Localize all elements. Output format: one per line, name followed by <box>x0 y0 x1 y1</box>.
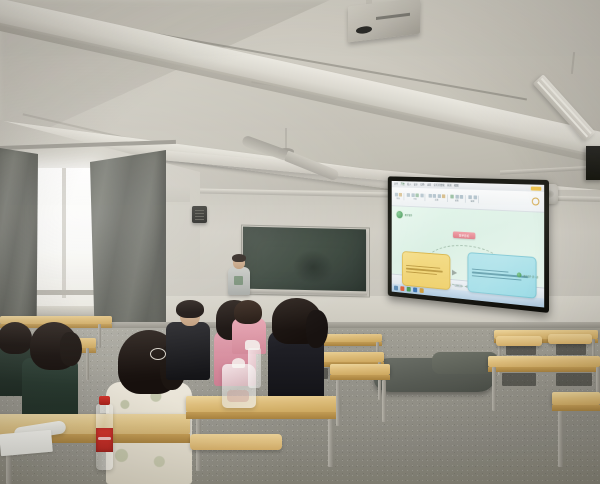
ribbon-icons <box>450 195 463 199</box>
slide-logo: 教学课件 <box>396 210 413 220</box>
ribbon-group-label: 编辑 <box>471 200 475 203</box>
black-speaker-icon <box>586 146 600 180</box>
bottle-label <box>96 428 113 452</box>
paste-icon <box>394 193 397 197</box>
chair <box>548 334 592 344</box>
ribbon-group-label: 段落 <box>435 199 438 202</box>
taskbar-app-icon[interactable] <box>400 286 404 291</box>
bag-contents <box>227 390 249 402</box>
bold-icon <box>407 193 410 197</box>
replace-icon <box>473 195 477 199</box>
font-size-icon <box>420 194 423 198</box>
speaker-grill <box>195 219 204 220</box>
cut-icon <box>399 193 402 197</box>
soda-bottle <box>96 404 113 470</box>
ribbon-group-font[interactable]: 字体 <box>406 193 426 201</box>
projector-lens <box>356 25 372 34</box>
chair <box>190 434 282 450</box>
logo-badge-icon <box>396 210 404 219</box>
find-icon <box>468 195 471 199</box>
presenter-hair <box>232 254 246 262</box>
ribbon-group-paragraph[interactable]: 段落 <box>427 194 447 202</box>
slide-box-left <box>402 251 450 290</box>
student-hair-strand <box>60 332 82 366</box>
bottle-neck <box>100 404 109 413</box>
share-button[interactable] <box>531 186 541 190</box>
ribbon-group-label: 绘图 <box>455 199 459 202</box>
paper-sheet <box>0 430 53 456</box>
indent-icon <box>442 194 445 198</box>
credit-badge-icon <box>517 272 522 277</box>
student-hair <box>234 300 262 324</box>
projector-vent <box>376 13 410 20</box>
student-hair <box>176 300 204 318</box>
ribbon-group-paste[interactable]: 粘贴 <box>393 193 404 201</box>
bullet-list-icon <box>437 194 440 198</box>
help-circle-icon[interactable] <box>532 197 540 205</box>
curtain-left[interactable] <box>0 148 38 338</box>
window-mullion <box>62 168 66 298</box>
font-color-icon <box>416 193 419 197</box>
align-center-icon <box>433 194 436 198</box>
slide-credit-text: 教学课件·第一讲 <box>523 273 538 278</box>
arrange-icon <box>455 195 458 199</box>
ribbon-group-editing[interactable]: 编辑 <box>467 195 479 203</box>
align-left-icon <box>428 194 431 198</box>
screen-display: 文件 开始 插入 设计 切换 动画 幻灯片放映 审阅 视图 <box>392 181 544 308</box>
slide-canvas[interactable]: 教学课件 教学目标 教学课件·第一讲 <box>392 206 544 287</box>
bag-knot <box>232 358 245 368</box>
speaker-icon <box>192 206 207 223</box>
ribbon-icons <box>394 193 401 197</box>
hair-clip <box>150 348 166 360</box>
italic-icon <box>411 193 414 197</box>
ribbon-icons <box>428 194 445 198</box>
ceiling-fan-rod <box>285 128 287 150</box>
slide-logo-text: 教学课件 <box>405 213 413 216</box>
slide-arrow-icon <box>452 270 457 276</box>
student-hair-strand <box>306 310 328 348</box>
ribbon-icons <box>468 195 476 199</box>
bottle-cap <box>99 396 110 405</box>
start-icon[interactable] <box>394 286 398 291</box>
taskbar-app-icon[interactable] <box>420 288 424 293</box>
tshirt-print <box>234 276 243 285</box>
ribbon-group-drawing[interactable]: 绘图 <box>449 195 465 203</box>
spray-trigger <box>245 340 260 350</box>
student-hair <box>0 322 32 354</box>
speaker-grill <box>195 213 204 214</box>
shape-icon <box>450 195 453 199</box>
blackboard-frame <box>241 225 370 298</box>
quick-style-icon <box>460 195 463 199</box>
slide-title: 教学目标 <box>453 231 475 239</box>
curtain-right[interactable] <box>90 150 166 332</box>
speaker-grill <box>195 210 204 211</box>
classroom-photo: 文件 开始 插入 设计 切换 动画 幻灯片放映 审阅 视图 <box>0 0 600 484</box>
slide-text-line <box>406 271 437 275</box>
spray-bottle <box>248 348 261 388</box>
bottle-label-text <box>98 437 111 440</box>
taskbar-app-icon[interactable] <box>413 287 417 292</box>
ribbon-icons <box>407 193 424 197</box>
ribbon-group-label: 字体 <box>413 198 416 201</box>
projection-screen[interactable]: 文件 开始 插入 设计 切换 动画 幻灯片放映 审阅 视图 <box>388 176 549 313</box>
speaker-grill <box>195 216 204 217</box>
chair <box>496 336 542 346</box>
student-body <box>166 322 210 380</box>
ribbon-group-label: 粘贴 <box>397 197 400 200</box>
taskbar-app-icon[interactable] <box>407 287 411 292</box>
